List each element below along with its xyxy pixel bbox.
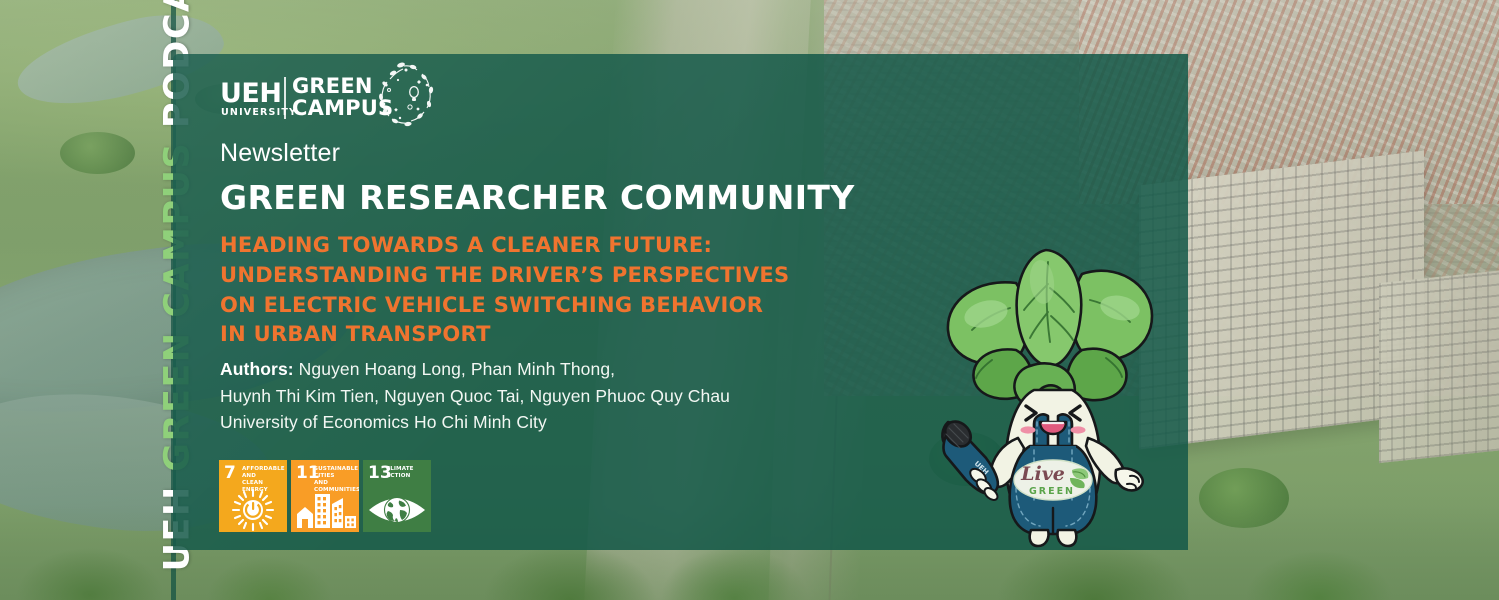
sdg-badge-11[interactable]: 11 SUSTAINABLE CITIES AND COMMUNITIES [291, 460, 359, 532]
eye-globe-icon [363, 488, 431, 532]
authors-first-line: Authors: Nguyen Hoang Long, Phan Minh Th… [220, 356, 730, 383]
authors-names-line2: Huynh Thi Kim Tien, Nguyen Quoc Tai, Ngu… [220, 383, 730, 410]
newsletter-kicker: Newsletter [220, 139, 340, 168]
sdg-name-line: CLIMATE [386, 466, 428, 473]
mascot-live-text: Live [1020, 463, 1065, 485]
sdg-name: CLIMATE ACTION [386, 466, 428, 480]
article-subtitle-line: IN URBAN TRANSPORT [220, 320, 789, 350]
sdg-badge-7[interactable]: 7 AFFORDABLE AND CLEAN ENERGY [219, 460, 287, 532]
sdg-badge-group: 7 AFFORDABLE AND CLEAN ENERGY [219, 460, 431, 532]
logo-ueh-text: UEH [220, 80, 281, 107]
authors-block: Authors: Nguyen Hoang Long, Phan Minh Th… [220, 356, 730, 436]
sun-power-icon [219, 488, 287, 532]
radish-mascot-icon: Live GREEN UEH [930, 238, 1165, 553]
sdg-badge-13[interactable]: 13 CLIMATE ACTION [363, 460, 431, 532]
leaf-wreath-icon [370, 60, 440, 138]
article-subtitle: HEADING TOWARDS A CLEANER FUTURE: UNDERS… [220, 231, 789, 350]
logo-divider [284, 77, 286, 119]
sdg-number: 7 [224, 465, 236, 482]
article-subtitle-line: HEADING TOWARDS A CLEANER FUTURE: [220, 231, 789, 261]
authors-label: Authors: [220, 359, 294, 379]
mascot-green-text: GREEN [1029, 486, 1075, 497]
sdg-name-line: ACTION [386, 473, 428, 480]
affiliation: University of Economics Ho Chi Minh City [220, 409, 730, 436]
sdg-name-line: AFFORDABLE AND [242, 466, 284, 480]
page-title: GREEN RESEARCHER COMMUNITY [220, 181, 855, 214]
ueh-green-campus-logo: UEH UNIVERSITY GREEN CAMPUS [220, 68, 400, 130]
article-subtitle-line: ON ELECTRIC VEHICLE SWITCHING BEHAVIOR [220, 291, 789, 321]
authors-names-line1: Nguyen Hoang Long, Phan Minh Thong, [294, 359, 615, 379]
sdg-name-line: SUSTAINABLE CITIES [314, 466, 356, 480]
article-subtitle-line: UNDERSTANDING THE DRIVER’S PERSPECTIVES [220, 261, 789, 291]
logo-university-text: UNIVERSITY [221, 108, 297, 118]
city-buildings-icon [291, 488, 359, 532]
